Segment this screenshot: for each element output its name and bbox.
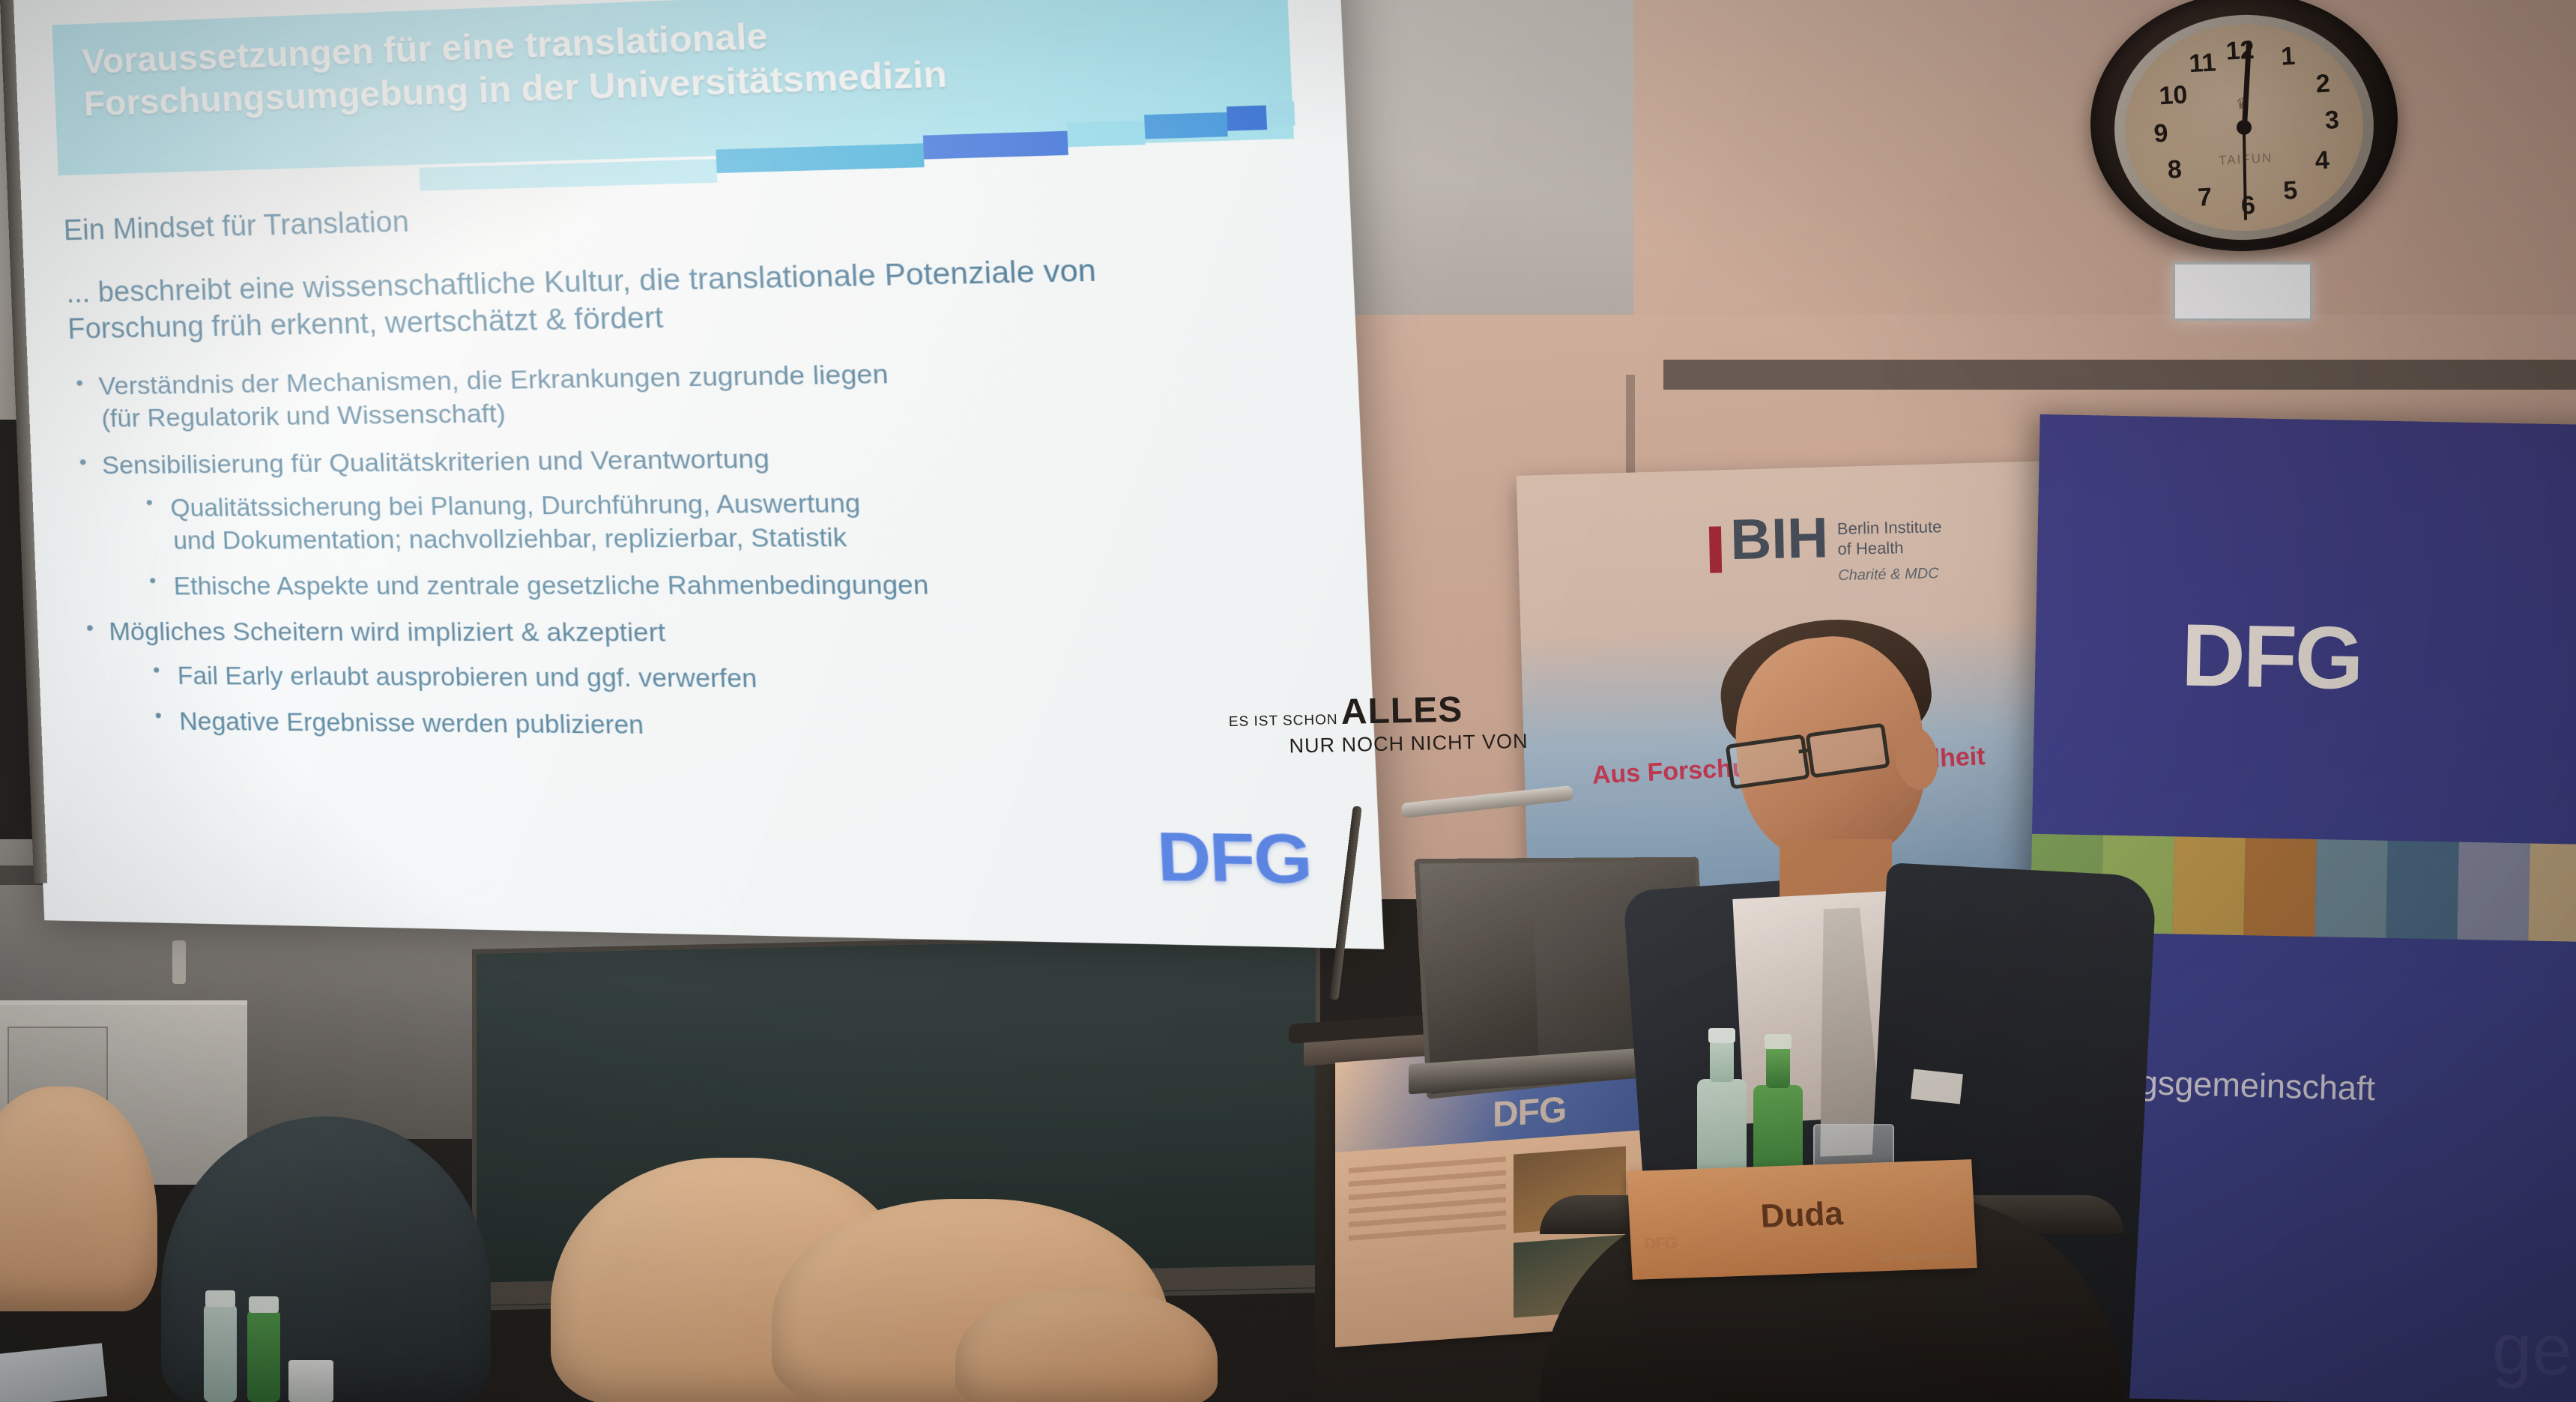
wall-quote-line1-big: ALLES [1340,690,1463,732]
slide-body: Ein Mindset für Translation ... beschrei… [61,180,1322,763]
poster-line [1349,1183,1506,1200]
slide-deco-bar-3 [923,131,1068,160]
poster-line [1349,1170,1506,1186]
poster-line [1349,1197,1506,1213]
bullet-text: Sensibilisierung für Qualitätskriterien … [101,444,770,480]
nameplate-dfg-logo: DFG [1644,1233,1678,1254]
bullet-subtext: und Dokumentation; nachvollziehbar, repl… [171,518,1313,556]
slide-lead-2: ... beschreibt eine wissenschaftliche Ku… [65,247,1302,348]
bottle-neck [1710,1040,1734,1082]
slide-deco-bar-7 [1266,101,1295,127]
list-item: Sensibilisierung für Qualitätskriterien … [71,437,1315,602]
bih-subtitle-line1: Berlin Institute [1837,517,1942,538]
nameplate-small-text: Ein Regenerationen [1880,1249,1967,1263]
list-item: Mögliches Scheitern wird impliziert & ak… [78,616,1321,748]
poster-line [1349,1210,1506,1227]
bih-subtitle: Berlin Institute of Health Charité & MDC [1837,517,1943,584]
bullet-text: Fail Early erlaubt ausprobieren und ggf.… [177,661,758,692]
list-item: Verständnis der Mechanismen, die Erkrank… [68,351,1307,436]
slide-title: Voraussetzungen für eine translationale … [81,0,1274,125]
poster-line [1349,1224,1506,1240]
ceiling-strip [1663,360,2576,390]
conference-room-photo: Voraussetzungen für eine translationale … [0,0,2576,1402]
strip-swatch [2172,836,2245,935]
bottle-cap [249,1296,279,1313]
clock-numeral: 8 [2167,155,2183,185]
bullet-text: Mögliches Scheitern wird impliziert & ak… [109,617,666,647]
slide-bullet-list: Verständnis der Mechanismen, die Erkrank… [68,351,1322,747]
slide-lead-2-line2: Forschung früh erkennt, wertschätzt & fö… [67,302,664,345]
slide-lead-2-line1: ... beschreibt eine wissenschaftliche Ku… [65,254,1096,309]
bih-letters: BIH [1730,512,1829,566]
emergency-light-sign [2173,262,2312,321]
slide-title-band: Voraussetzungen für eine translationale … [52,0,1294,175]
poster-dfg-logo: DFG [1493,1090,1566,1136]
list-item: Fail Early erlaubt ausprobieren und ggf.… [146,659,1319,698]
bih-logo: BIH Berlin Institute of Health Charité &… [1709,510,1943,587]
clock-numeral: 7 [2197,183,2213,213]
slide-sub-bullet-list: Qualitätssicherung bei Planung, Durchfüh… [103,483,1315,602]
wall-clock-icon: 12 1 2 3 4 5 6 7 8 9 10 11 ♛ TAIFUN [2075,0,2405,262]
bullet-text: Qualitätssicherung bei Planung, Durchfüh… [170,489,861,522]
wall-quote-line1-small: ES IST SCHON [1229,713,1338,730]
dfg-ghost-text: ge [2491,1308,2573,1392]
nameplate-name: Duda [1759,1195,1844,1236]
strip-swatch [2315,839,2387,938]
clock-numeral: 11 [2189,48,2217,79]
bih-accent-bar-icon [1709,526,1722,572]
slide-sub-bullet-list: Fail Early erlaubt ausprobieren und ggf.… [110,659,1322,748]
bullet-text: Ethische Aspekte und zentrale gesetzlich… [173,570,929,600]
clock-numeral: 10 [2159,81,2189,112]
slide-deco-bar-6 [1227,105,1267,130]
bih-subtitle-italic: Charité & MDC [1838,564,1943,584]
bottle-neck [1766,1046,1790,1088]
clock-numeral: 6 [2240,191,2256,221]
clock-numeral: 1 [2280,42,2296,72]
paper-sheet [0,1343,107,1402]
strip-swatch [2386,841,2458,940]
strip-swatch [2457,842,2530,941]
bottle-icon [204,1304,237,1402]
strip-swatch [2528,843,2576,942]
wall-hook-post-icon [172,940,186,984]
clock-numeral: 4 [2315,145,2330,175]
clock-numeral: 9 [2153,119,2169,149]
bottle-cap [1765,1034,1792,1049]
bih-subtitle-line2: of Health [1837,538,1904,558]
clock-second-hand [2243,124,2247,220]
bottle-icon [247,1310,280,1402]
speaker-name-badge [1911,1069,1963,1105]
bottle-cap [205,1290,235,1307]
poster-line [1349,1156,1506,1173]
dfg-banner-logo: DFG [2180,605,2362,710]
list-item: Negative Ergebnisse werden publizieren [148,705,1322,748]
slide-deco-bar-4 [1067,121,1146,147]
clock-numeral: 2 [2315,69,2331,99]
bottle-cap [1708,1028,1735,1043]
projected-slide: Voraussetzungen für eine translationale … [6,0,1384,949]
clock-numeral: 5 [2282,176,2298,206]
cup-icon [288,1360,333,1402]
slide-lead-1: Ein Mindset für Translation [63,180,1298,250]
clock-numeral: 3 [2324,106,2340,136]
slide-deco-bar-1 [420,159,718,191]
slide-dfg-logo: DFG [1155,818,1313,901]
wall-quote: ES IST SCHON ALLES NUR NOCH NICHT VON [1228,690,1529,758]
clock-hub [2236,119,2252,135]
slide-deco-bar-5 [1144,112,1228,139]
poster-text-lines [1349,1156,1506,1248]
list-item: Ethische Aspekte und zentrale gesetzlich… [142,567,1315,602]
nameplate: Duda DFG Ein Regenerationen [1627,1159,1977,1280]
bullet-text: Negative Ergebnisse werden publizieren [179,707,644,739]
strip-swatch [2243,838,2316,937]
list-item: Qualitätssicherung bei Planung, Durchfüh… [139,483,1313,557]
